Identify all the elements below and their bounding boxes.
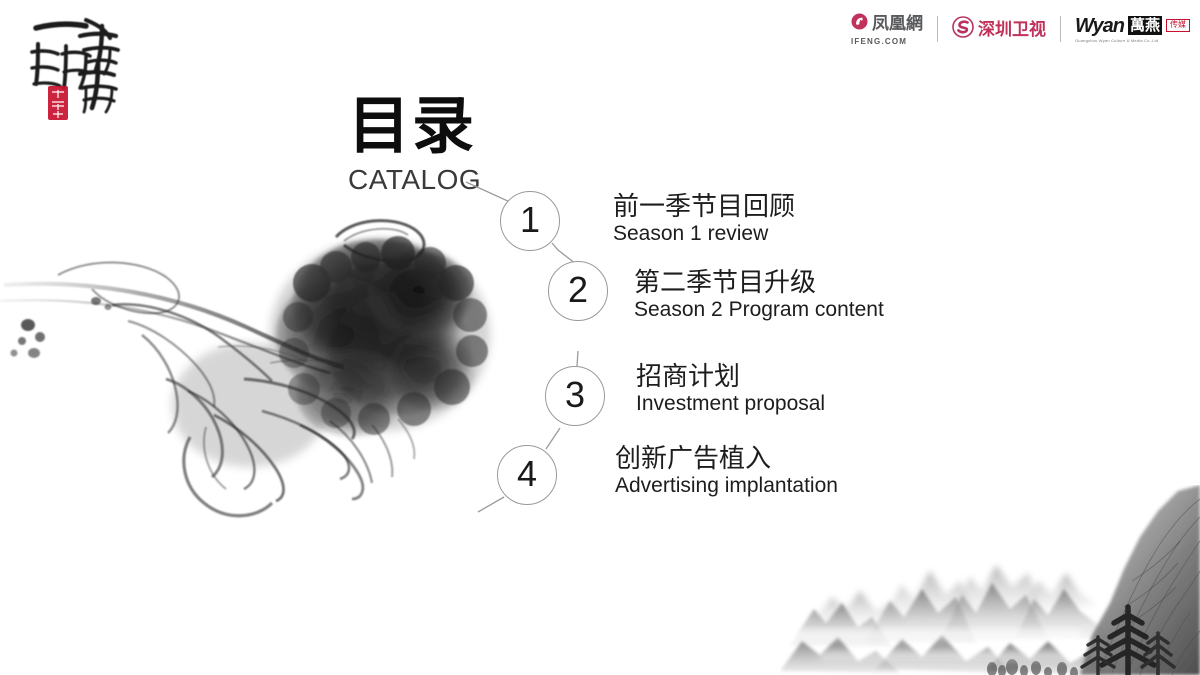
toc-entry-4-en: Advertising implantation	[615, 474, 838, 499]
toc-number-2: 2	[568, 272, 588, 308]
partner-logo-wyan[interactable]: Wyan 萬燕 传媒 Guangzhou Wyan Culture & Medi…	[1075, 8, 1190, 50]
toc-entry-3-cn: 招商计划	[636, 361, 825, 392]
toc-entry-1-cn: 前一季节目回顾	[613, 191, 795, 222]
toc-entry-1-en: Season 1 review	[613, 222, 795, 247]
toc-circle-3[interactable]: 3	[545, 366, 605, 426]
phoenix-icon	[851, 13, 868, 35]
partner-word-wyan: Wyan	[1075, 16, 1124, 36]
toc-number-1: 1	[520, 202, 540, 238]
partner-name-szstv: 深圳卫视	[978, 21, 1046, 38]
toc-entry-4-cn: 创新广告植入	[615, 443, 838, 474]
partner-logo-ifeng[interactable]: 凤凰網 IFENG.COM	[851, 8, 923, 50]
toc-connector-line	[0, 0, 1200, 675]
page-title-en: CATALOG	[348, 166, 481, 194]
toc-circle-4[interactable]: 4	[497, 445, 557, 505]
partner-logo-szstv[interactable]: 深圳卫视	[952, 8, 1046, 50]
toc-entry-1[interactable]: 前一季节目回顾 Season 1 review	[613, 191, 795, 246]
toc-entry-3[interactable]: 招商计划 Investment proposal	[636, 361, 825, 416]
toc-entry-2-en: Season 2 Program content	[634, 298, 884, 323]
toc-circle-1[interactable]: 1	[500, 191, 560, 251]
partner-seal-wyan: 传媒	[1166, 19, 1190, 32]
toc-circle-2[interactable]: 2	[548, 261, 608, 321]
landscape-artwork	[780, 485, 1200, 675]
brand-logo	[14, 6, 134, 126]
toc-entry-2[interactable]: 第二季节目升级 Season 2 Program content	[634, 267, 884, 322]
partner-sub-ifeng: IFENG.COM	[851, 38, 923, 46]
catalog-slide: 凤凰網 IFENG.COM 深圳卫视 Wyan 萬燕 传媒	[0, 0, 1200, 675]
partner-logos: 凤凰網 IFENG.COM 深圳卫视 Wyan 萬燕 传媒	[851, 8, 1190, 50]
partner-name-wyan: 萬燕	[1128, 16, 1162, 35]
seal-stamp	[48, 86, 68, 120]
toc-entry-4[interactable]: 创新广告植入 Advertising implantation	[615, 443, 838, 498]
toc-entry-3-en: Investment proposal	[636, 392, 825, 417]
page-title-cn: 目录	[348, 96, 481, 158]
ink-splash-artwork	[0, 175, 540, 525]
logo-divider-1	[937, 16, 938, 42]
toc-number-3: 3	[565, 377, 585, 413]
toc-number-4: 4	[517, 456, 537, 492]
partner-name-ifeng: 凤凰網	[872, 15, 923, 32]
partner-sub-wyan: Guangzhou Wyan Culture & Media Co.,Ltd	[1075, 39, 1190, 43]
toc-entry-2-cn: 第二季节目升级	[634, 267, 884, 298]
pine-tree-icon	[1082, 607, 1174, 675]
logo-divider-2	[1060, 16, 1061, 42]
s-swirl-icon	[952, 16, 974, 43]
page-title: 目录 CATALOG	[348, 96, 481, 194]
